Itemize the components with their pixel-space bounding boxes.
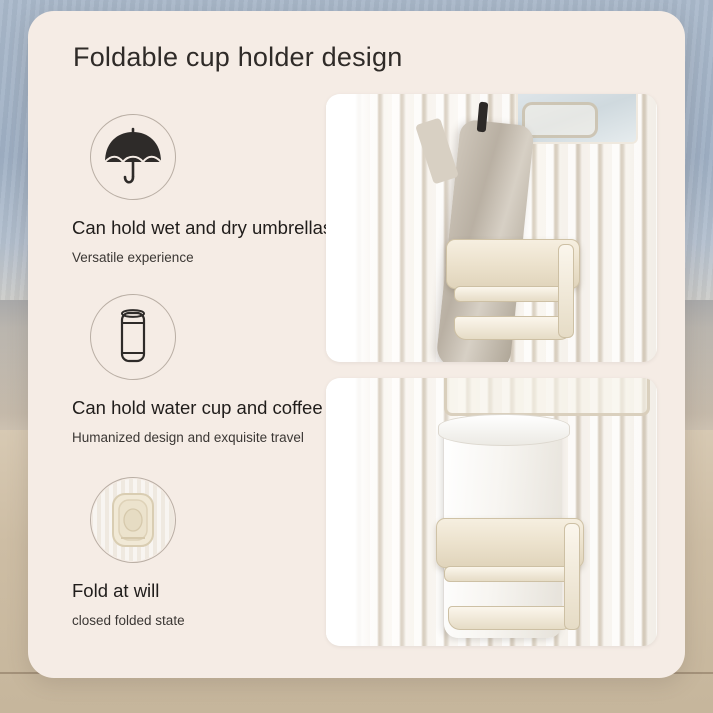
screenshot-stage: Foldable cup holder design Can hold wet …: [0, 0, 713, 713]
cup-holder-lower-arm: [444, 566, 574, 582]
cup-holder: [436, 518, 584, 568]
coffee-cup-lid: [438, 414, 570, 446]
photo-highlight-left: [326, 378, 378, 646]
cup-holder-base: [454, 316, 572, 340]
umbrella-icon: [90, 114, 176, 200]
product-info-card: Foldable cup holder design Can hold wet …: [28, 11, 685, 678]
suitcase-top-plate: [444, 378, 650, 416]
suitcase-corner-plate: [522, 102, 598, 138]
page-title: Foldable cup holder design: [73, 42, 402, 73]
cup-holder-side-bracket: [558, 244, 574, 338]
cup-icon: [90, 294, 176, 380]
coffee-cup-in-holder-photo: [326, 378, 657, 646]
cup-holder-base: [448, 606, 574, 630]
cup-holder-side-bracket: [564, 523, 580, 630]
cup-holder-lower-arm: [454, 286, 572, 302]
umbrella-in-holder-photo: [326, 94, 657, 362]
photo-highlight-left: [326, 94, 378, 362]
folded-holder-icon: [90, 477, 176, 563]
